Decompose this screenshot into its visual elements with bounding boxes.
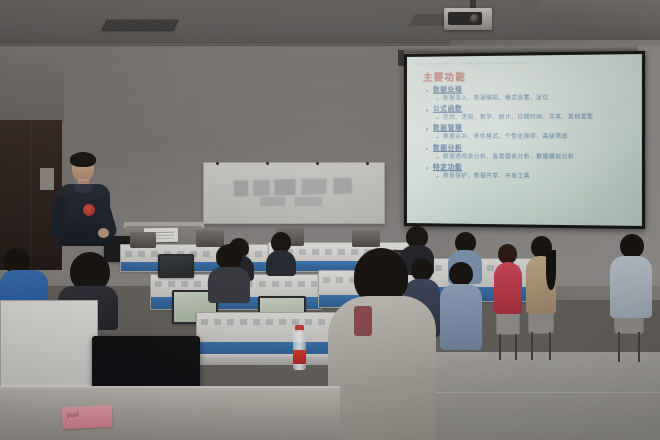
head (449, 262, 473, 286)
torso (328, 296, 436, 440)
monitor-rear (130, 232, 156, 248)
chair-leg (499, 334, 501, 360)
hair-long (546, 250, 556, 290)
presenter-shirt-logo (83, 204, 95, 216)
head (498, 244, 517, 264)
slide-title: 主要功能 (423, 69, 466, 83)
chair-leg (515, 334, 517, 360)
whiteboard (203, 162, 385, 224)
student-tan-coat (526, 236, 556, 318)
whiteboard-writing (260, 197, 322, 206)
student-back-row-a (208, 244, 250, 300)
head (620, 234, 644, 258)
whiteboard-clip (316, 162, 319, 165)
chair-leg (638, 332, 640, 362)
ceiling-vent (101, 20, 178, 31)
slide-header-text: Excel Application Series | Data Manageme… (416, 59, 636, 66)
slide-section: 特定功能 数据保护、数据共享、开发工具 (426, 163, 636, 181)
student-red-coat (494, 244, 522, 320)
lanyard (354, 306, 372, 336)
chair-leg (618, 332, 620, 362)
torso (494, 262, 522, 314)
bottle-label (293, 350, 306, 364)
slide-body: 数据处理 数据录入、数据编辑、格式设置、定位 公式函数 查找、逻辑、数学、统计、… (426, 84, 636, 183)
slide-section-heading: 数据管理 (426, 124, 636, 134)
slide-section: 数据分析 数据透视表分析、各类图表分析、数据模拟分析 (426, 144, 636, 162)
torso (610, 256, 652, 318)
pink-name-card: pusl (61, 405, 112, 430)
whiteboard-clip (216, 162, 219, 165)
slide-section: 公式函数 查找、逻辑、数学、统计、日期时间、文本、其他类型 (426, 104, 636, 122)
whiteboard-clip (366, 162, 369, 165)
presenter-collar (74, 184, 92, 193)
student-silhouette (266, 232, 296, 274)
torso (208, 267, 250, 303)
torso (266, 250, 296, 276)
monitor (158, 254, 194, 278)
left-wall-upper (0, 46, 64, 124)
student-light-blue-shirt (610, 234, 650, 320)
slide-section-items: 查找、逻辑、数学、统计、日期时间、文本、其他类型 (426, 113, 636, 122)
presenter-hair (70, 152, 96, 167)
monitor-screen (160, 256, 192, 276)
slide-section-items: 数据保护、数据共享、开发工具 (426, 172, 636, 181)
projection-screen: Excel Application Series | Data Manageme… (404, 51, 645, 229)
whiteboard-clip (266, 162, 269, 165)
slide-surface: Excel Application Series | Data Manageme… (407, 54, 642, 226)
chair-leg (531, 332, 533, 360)
chair-leg (549, 332, 551, 360)
monitor-rear (352, 230, 380, 247)
classroom-photo: Excel Application Series | Data Manageme… (0, 0, 660, 440)
whiteboard-writing (234, 177, 352, 196)
slide-section-items: 数据透视表分析、各类图表分析、数据模拟分析 (426, 153, 636, 162)
slide-section: 数据管理 数据合并、条件格式、个性化排序、高级筛选 (426, 124, 636, 142)
slide-section-items: 数据合并、条件格式、个性化排序、高级筛选 (426, 133, 636, 141)
slide-section-items: 数据录入、数据编辑、格式设置、定位 (426, 93, 636, 102)
presenter-face-shadow (72, 166, 94, 179)
student-gray-blazer (328, 248, 436, 440)
student-blue-shirt (440, 262, 482, 352)
projector-lens (448, 12, 482, 25)
torso (440, 284, 482, 350)
presenter-hand (98, 228, 109, 238)
foreground-desk (0, 388, 340, 440)
slide-section-heading: 数据分析 (426, 144, 636, 153)
slide-section: 数据处理 数据录入、数据编辑、格式设置、定位 (426, 84, 636, 103)
pink-card-text: pusl (67, 410, 79, 419)
